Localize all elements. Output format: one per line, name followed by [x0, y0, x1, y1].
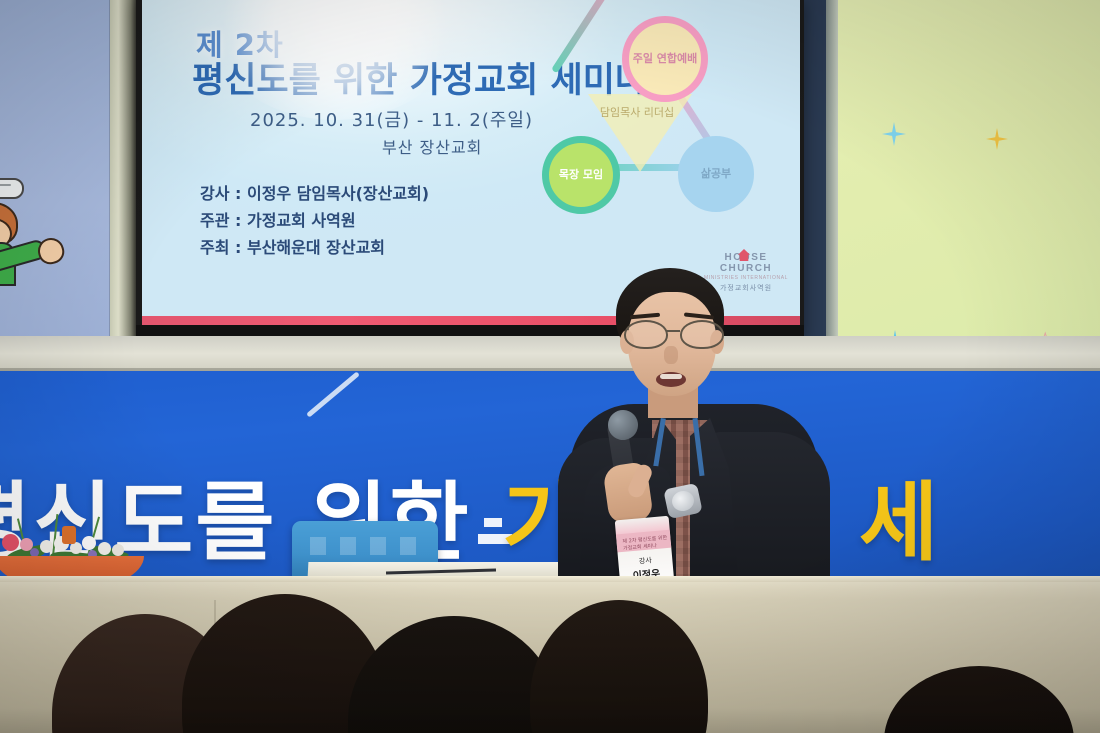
slide-detail-list: 강사 : 이정우 담임목사(장산교회) 주관 : 가정교회 사역원 주최 : 부… — [200, 180, 429, 261]
slide-place: 부산 장산교회 — [382, 134, 482, 158]
slide-detail-organizer: 주관 : 가정교회 사역원 — [200, 207, 429, 234]
sparkle-icon — [986, 128, 1008, 150]
glasses-icon — [622, 320, 726, 346]
left-wall-poster — [0, 0, 118, 372]
right-wall-poster: 그 WILL ☆ — [838, 0, 1100, 372]
diagram-node-left: 목장 모임 — [542, 136, 620, 214]
slide-date: 2025. 10. 31(금) - 11. 2(주일) — [250, 106, 533, 132]
diagram-center-label: 담임목사 리더십 — [582, 106, 692, 120]
cartoon-child-icon — [0, 150, 62, 270]
table-edge — [0, 576, 1100, 582]
badge-event-title: 제 2차 평신도를 위한 가정교회 세미나 — [622, 534, 671, 552]
diagram-edge-left — [551, 0, 617, 73]
audience-row-shadow — [0, 708, 1100, 733]
photo-scene: 그 WILL ☆ 제 2차 평신도를 위한 가정교회 세미나 2025. 10.… — [0, 0, 1100, 733]
slide-detail-speaker: 강사 : 이정우 담임목사(장산교회) — [200, 180, 429, 207]
diagram-node-top: 주일 연합예배 — [622, 16, 708, 102]
slide-detail-host: 주최 : 부산해운대 장산교회 — [200, 234, 429, 261]
wall-pillar — [110, 0, 138, 372]
sparkle-icon — [882, 122, 906, 146]
house-icon — [738, 249, 750, 261]
slide-triangle-diagram: 담임목사 리더십 주일 연합예배 목장 모임 삶공부 — [526, 8, 756, 218]
speaker-person: 제 2차 평신도를 위한 가정교회 세미나 강사 이정우 장산교회 — [560, 268, 828, 613]
diagram-node-right: 삶공부 — [678, 136, 754, 212]
